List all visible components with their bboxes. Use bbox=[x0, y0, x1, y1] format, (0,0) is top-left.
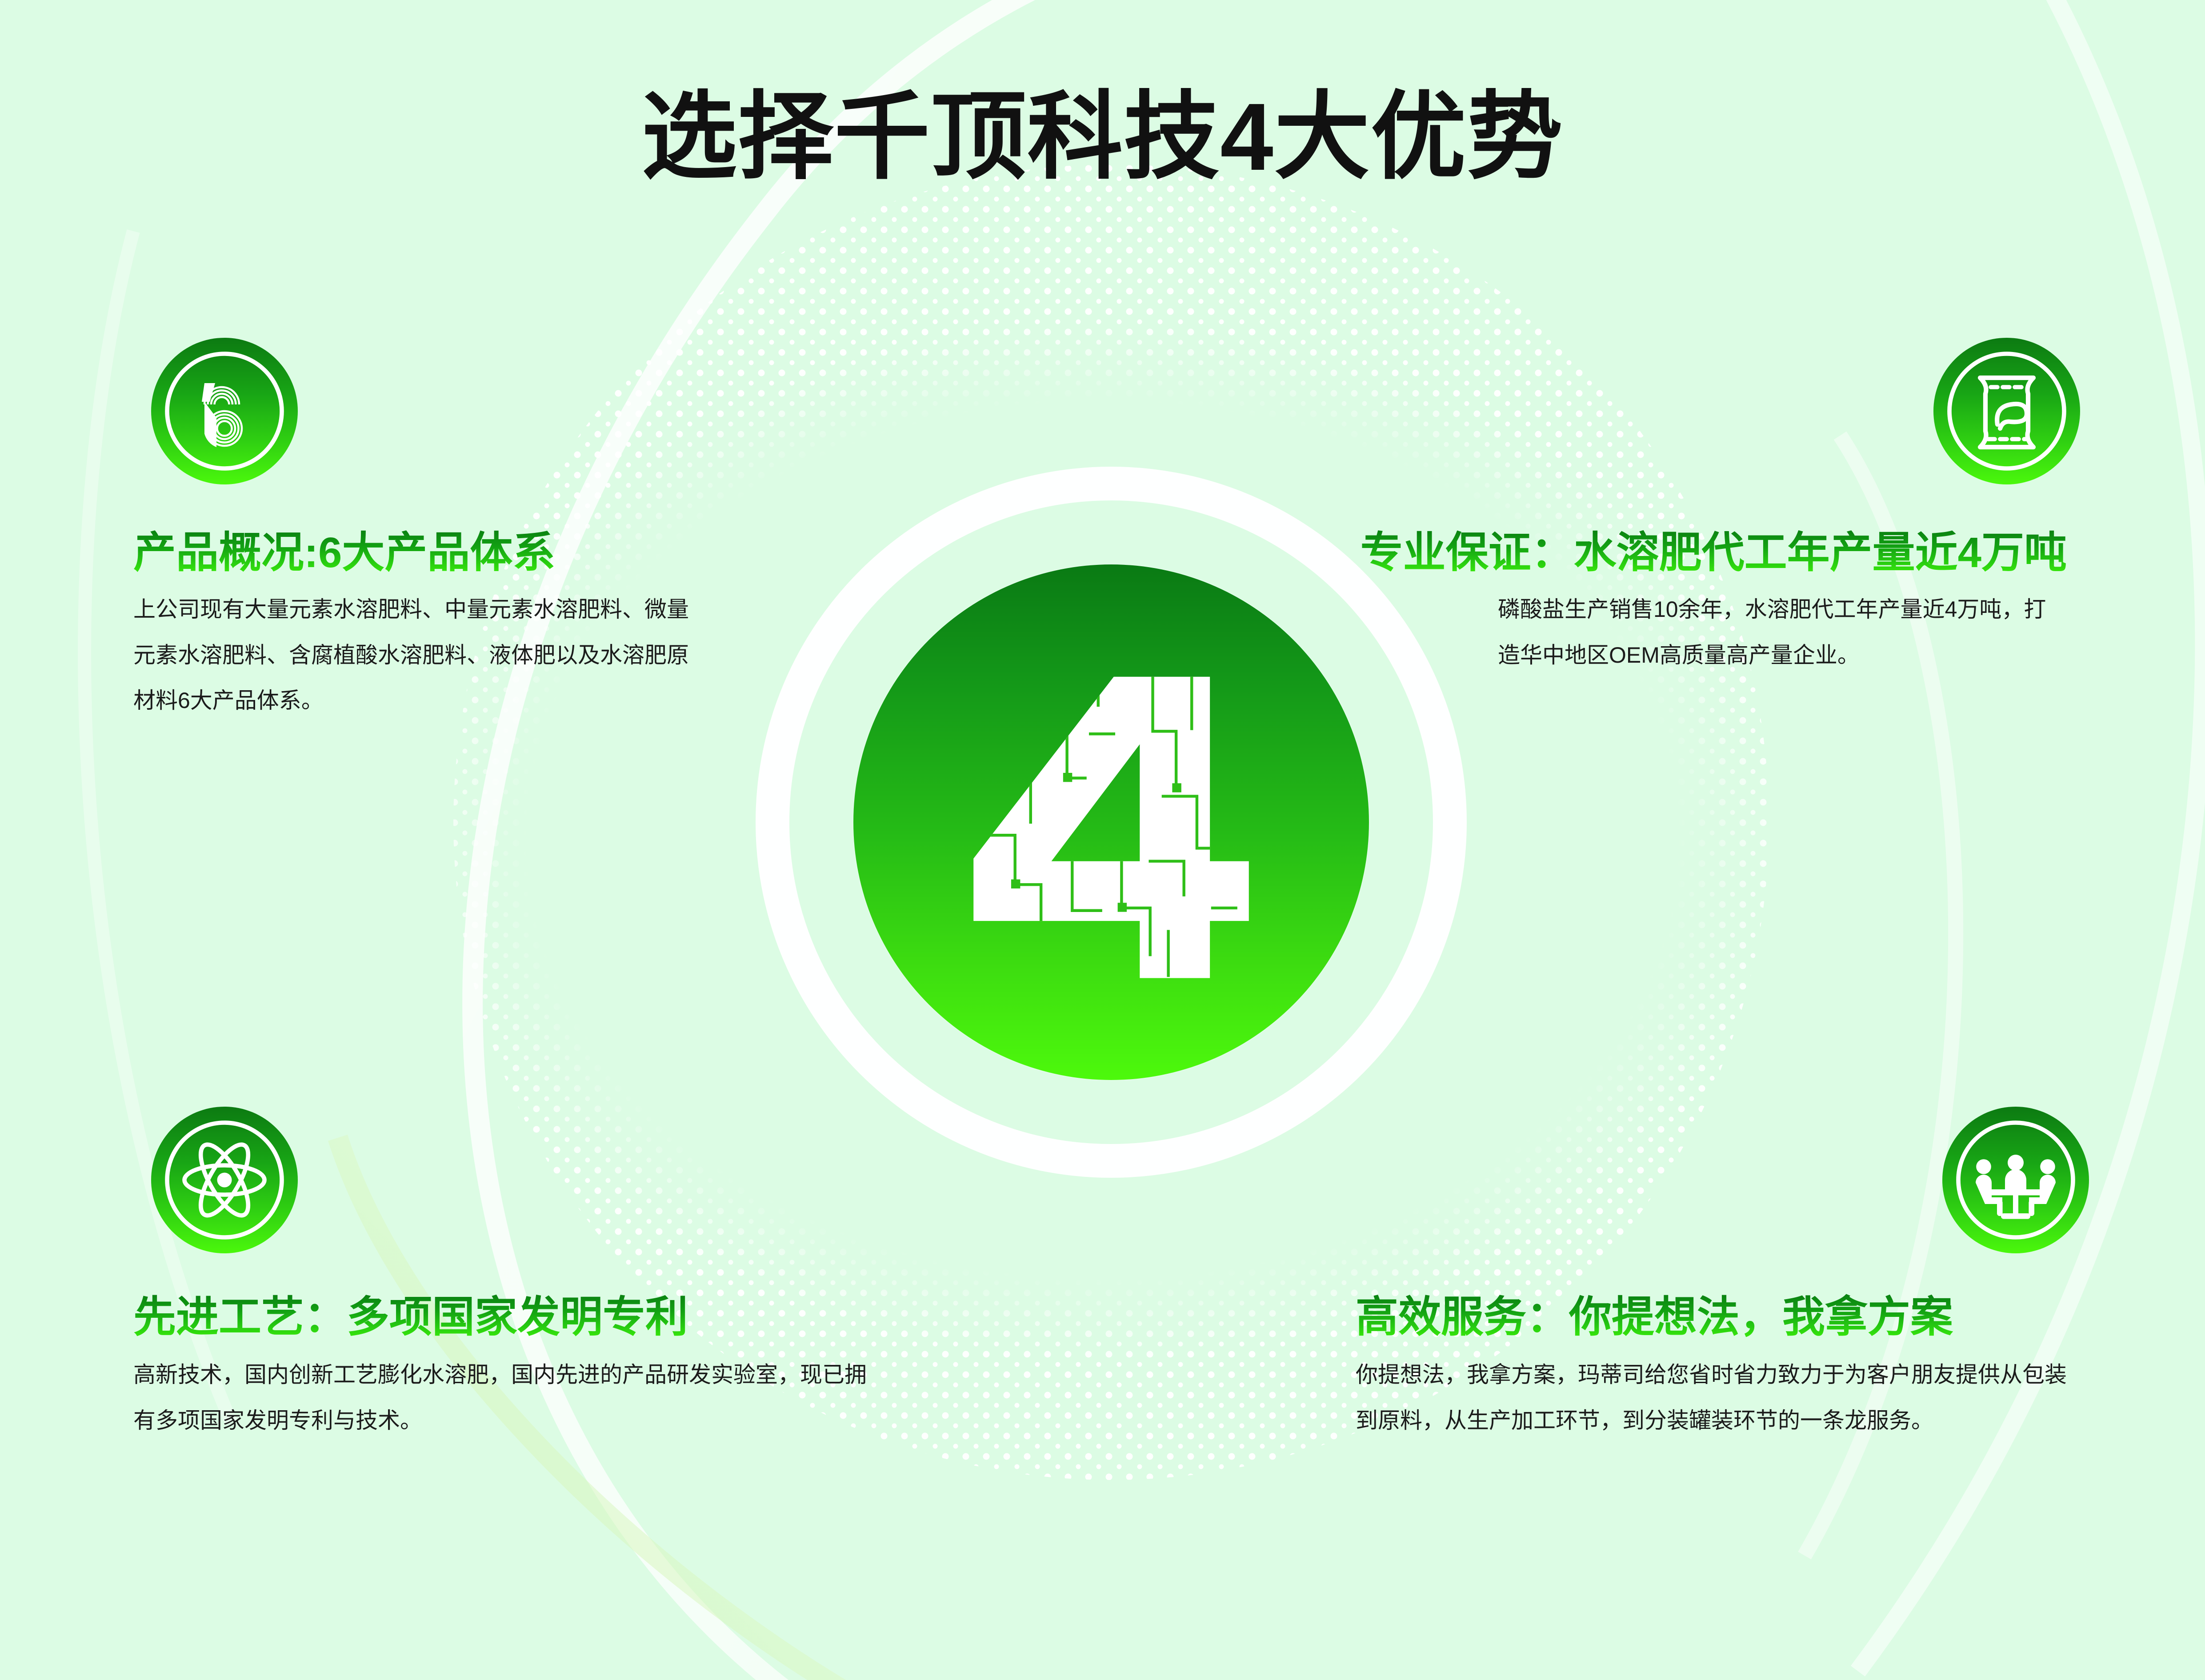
feature-heading: 高效服务：你提想法，我拿方案 bbox=[1356, 1293, 1953, 1341]
center-core-circle bbox=[853, 564, 1369, 1080]
fertilizer-bag-icon bbox=[1933, 338, 2080, 484]
feature-heading: 先进工艺：多项国家发明专利 bbox=[133, 1293, 688, 1341]
feature-heading: 专业保证：水溶肥代工年产量近4万吨 bbox=[1361, 529, 2067, 577]
feature-body: 你提想法，我拿方案，玛蒂司给您省时省力致力于为客户朋友提供从包装到原料，从生产加… bbox=[1356, 1352, 2076, 1443]
feature-heading: 产品概况:6大产品体系 bbox=[133, 529, 555, 577]
center-medallion bbox=[547, 258, 1676, 1387]
atom-molecule-icon bbox=[151, 1107, 298, 1253]
page-title: 选择千顶科技4大优势 bbox=[0, 89, 2205, 184]
number-six-rings-icon bbox=[151, 338, 298, 484]
meeting-team-icon bbox=[1942, 1107, 2089, 1253]
feature-body: 高新技术，国内创新工艺膨化水溶肥，国内先进的产品研发实验室，现已拥有多项国家发明… bbox=[133, 1352, 880, 1443]
infographic-stage: 选择千顶科技4大优势 bbox=[0, 0, 2205, 1680]
circuit-number-4-icon bbox=[951, 653, 1271, 991]
feature-body: 上公司现有大量元素水溶肥料、中量元素水溶肥料、微量元素水溶肥料、含腐植酸水溶肥料… bbox=[133, 587, 693, 724]
feature-body: 磷酸盐生产销售10余年，水溶肥代工年产量近4万吨，打造华中地区OEM高质量高产量… bbox=[1498, 587, 2067, 678]
